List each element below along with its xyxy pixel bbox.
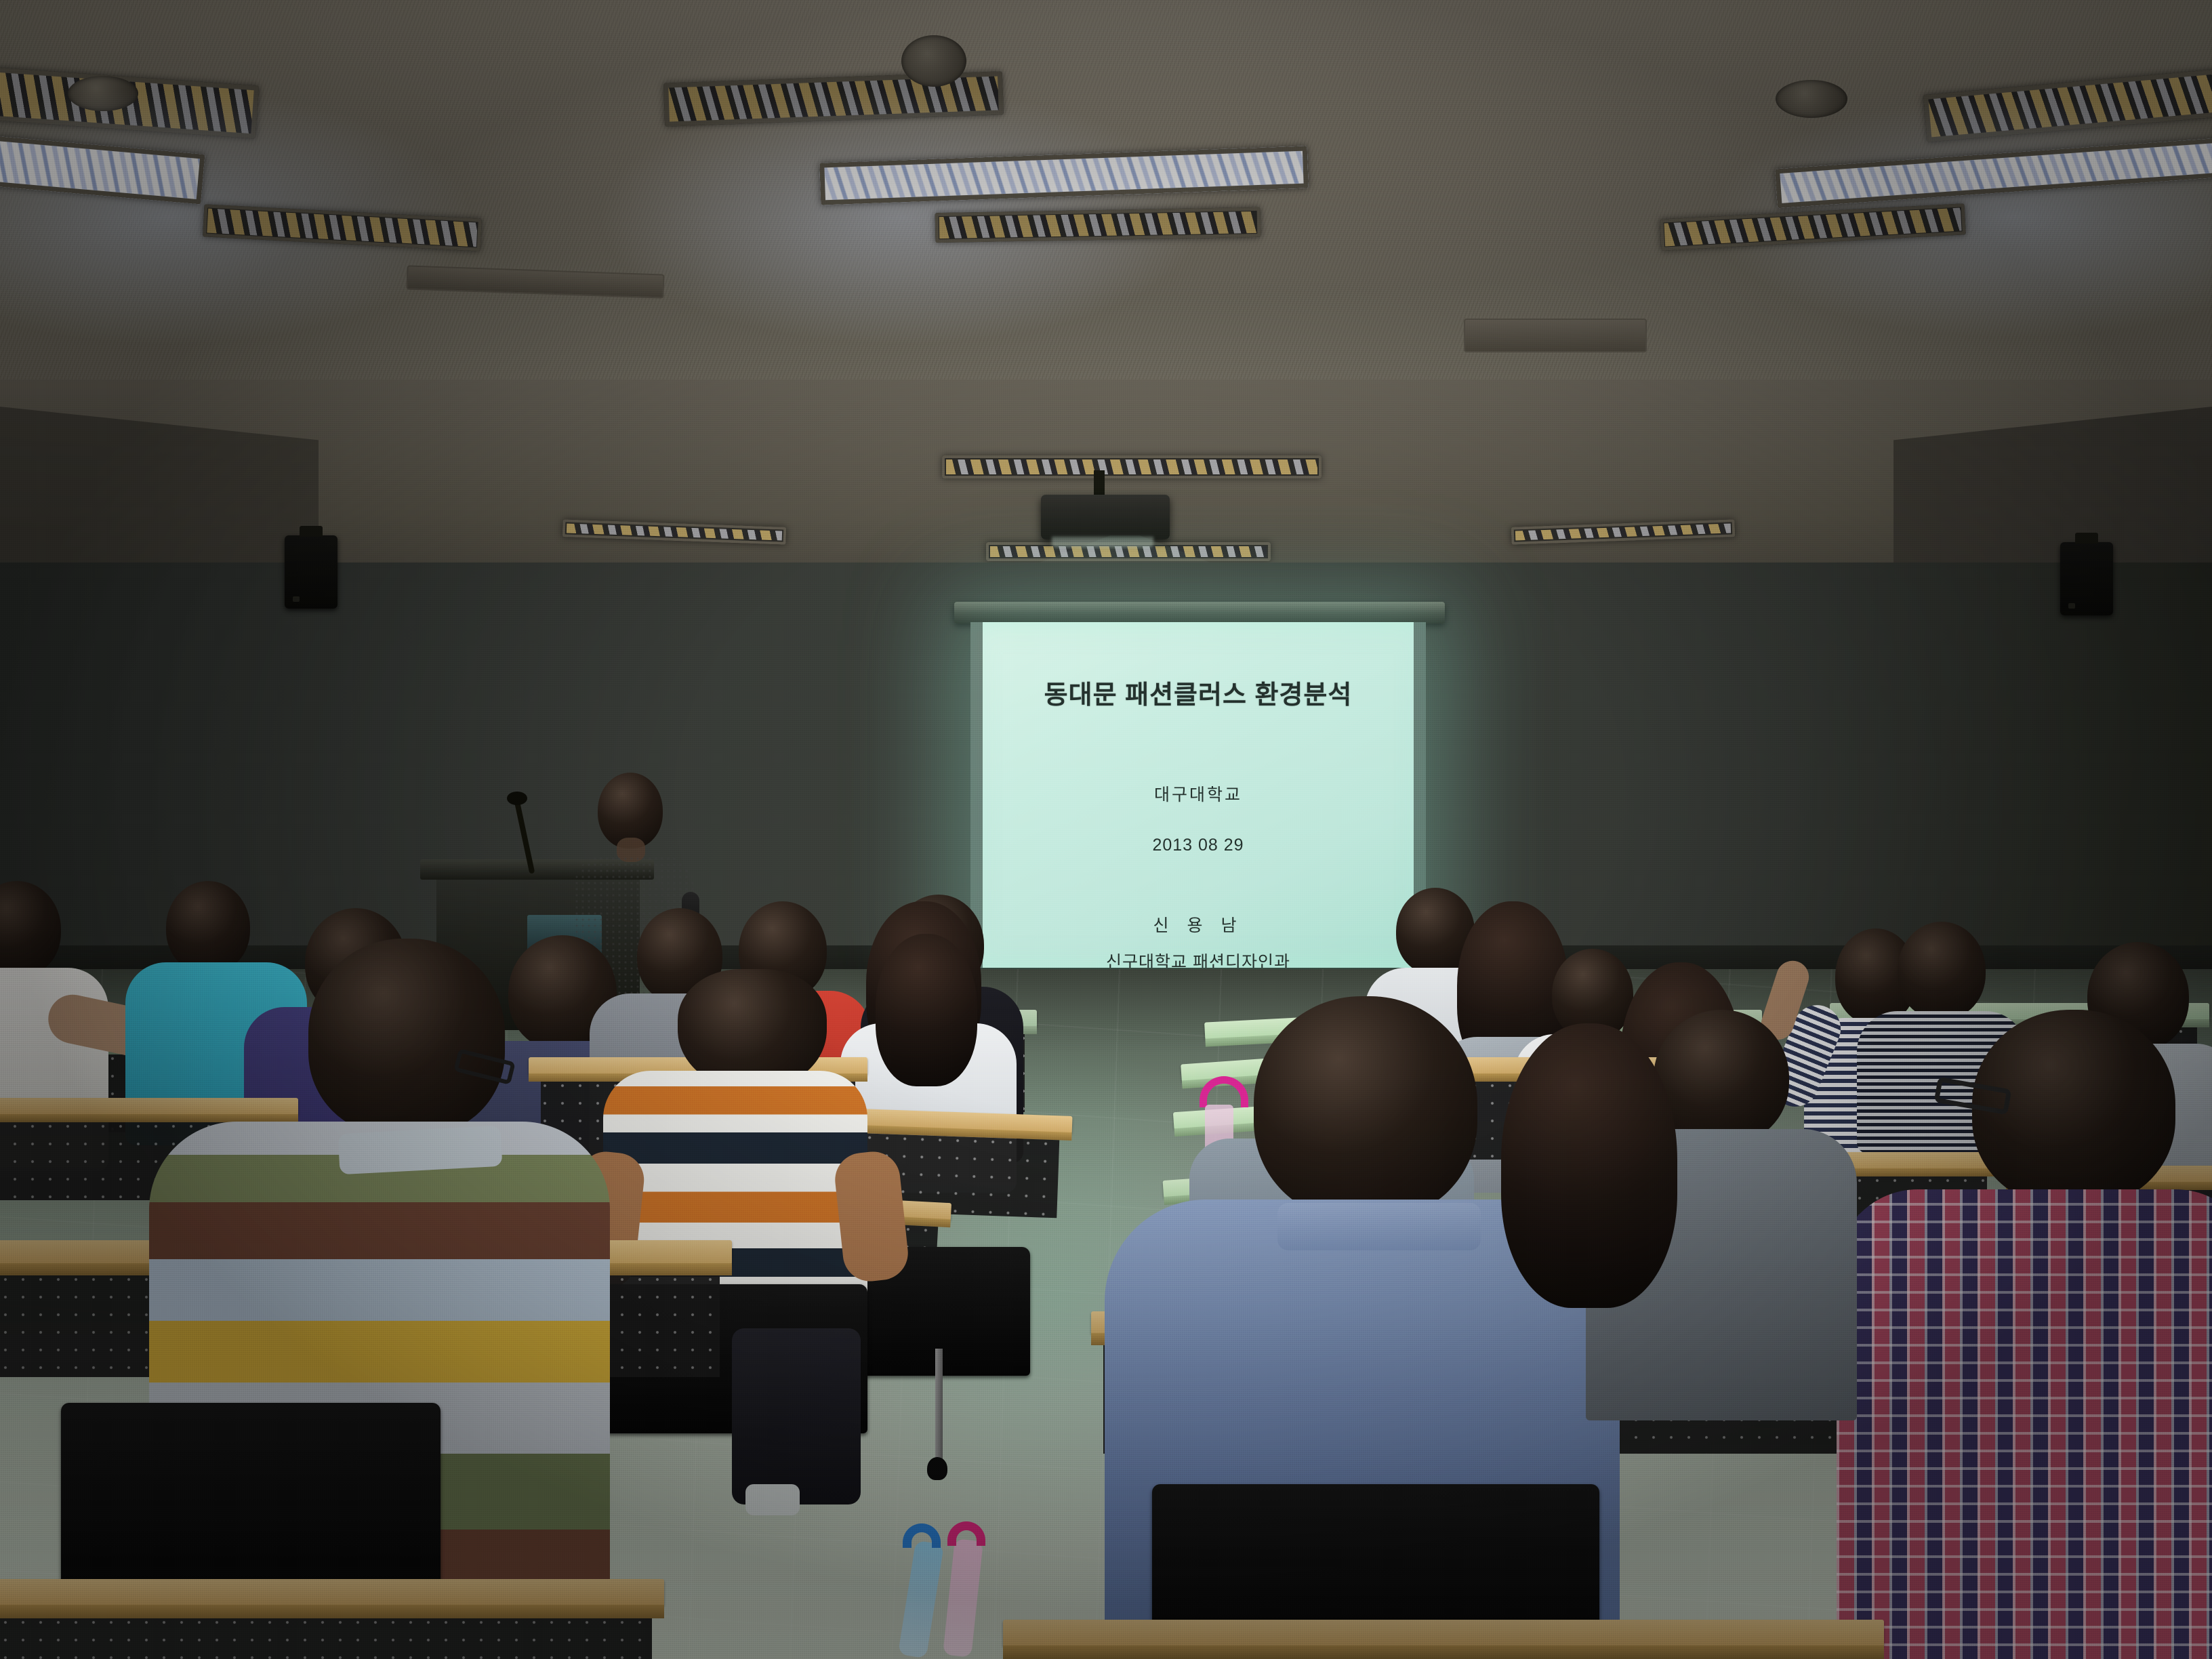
polo-collar [1277,1203,1481,1250]
light-row3-center [942,455,1322,478]
chair-foreground-left [61,1403,441,1606]
head [1898,922,1986,1019]
gooseneck-mic-head [507,792,527,805]
lecture-room-photo: 동대문 패션클러스 환경분석 대구대학교 2013 08 29 신 용 남 신구… [0,0,2212,1659]
desk-top [0,1098,298,1115]
desk-top [0,1579,664,1606]
desk-modesty-panel [0,1618,652,1659]
desk-edge [0,1605,664,1618]
ceiling-dome-speaker [68,76,138,111]
polo-collar [338,1126,503,1174]
head [166,881,250,973]
desk-bottom-strip-right [1003,1620,1884,1659]
slide-date: 2013 08 29 [1152,836,1244,855]
slide-presenter-name: 신 용 남 [1153,912,1244,937]
fixture-frame [942,455,1322,478]
fixture-frame [935,207,1261,243]
slide-organization: 대구대학교 [1154,781,1242,806]
chair-stem-center-2 [935,1349,943,1464]
projection-screen: 동대문 패션클러스 환경분석 대구대학교 2013 08 29 신 용 남 신구… [970,622,1426,968]
desk-edge [1003,1645,1884,1659]
desk-bottom-strip [0,1579,664,1659]
plaid-shirt [1837,1189,2212,1659]
chair-caster-b [927,1457,947,1480]
long-hair-front [876,934,977,1086]
ceiling [0,0,2212,407]
attendee-orange-stripe-shoe [745,1484,800,1515]
head [308,939,505,1135]
slide-title: 동대문 패션클러스 환경분석 [1044,674,1353,711]
head [1254,996,1477,1220]
light-row2-center [935,207,1261,243]
wall-speaker-left [285,535,337,609]
attendee-orange-stripe-legs [732,1328,861,1504]
desk-top [1003,1620,1884,1647]
slide-affiliation-1: 신구대학교 패션디자인과 [1106,949,1290,968]
ceiling-projector [1041,495,1170,539]
wall-speaker-right [2060,542,2113,615]
air-vent-center [1464,319,1647,352]
screen-housing [954,602,1445,623]
ceiling-dome-detector [901,35,966,87]
ceiling-dome-right [1776,80,1847,118]
long-hair [1501,1023,1677,1308]
